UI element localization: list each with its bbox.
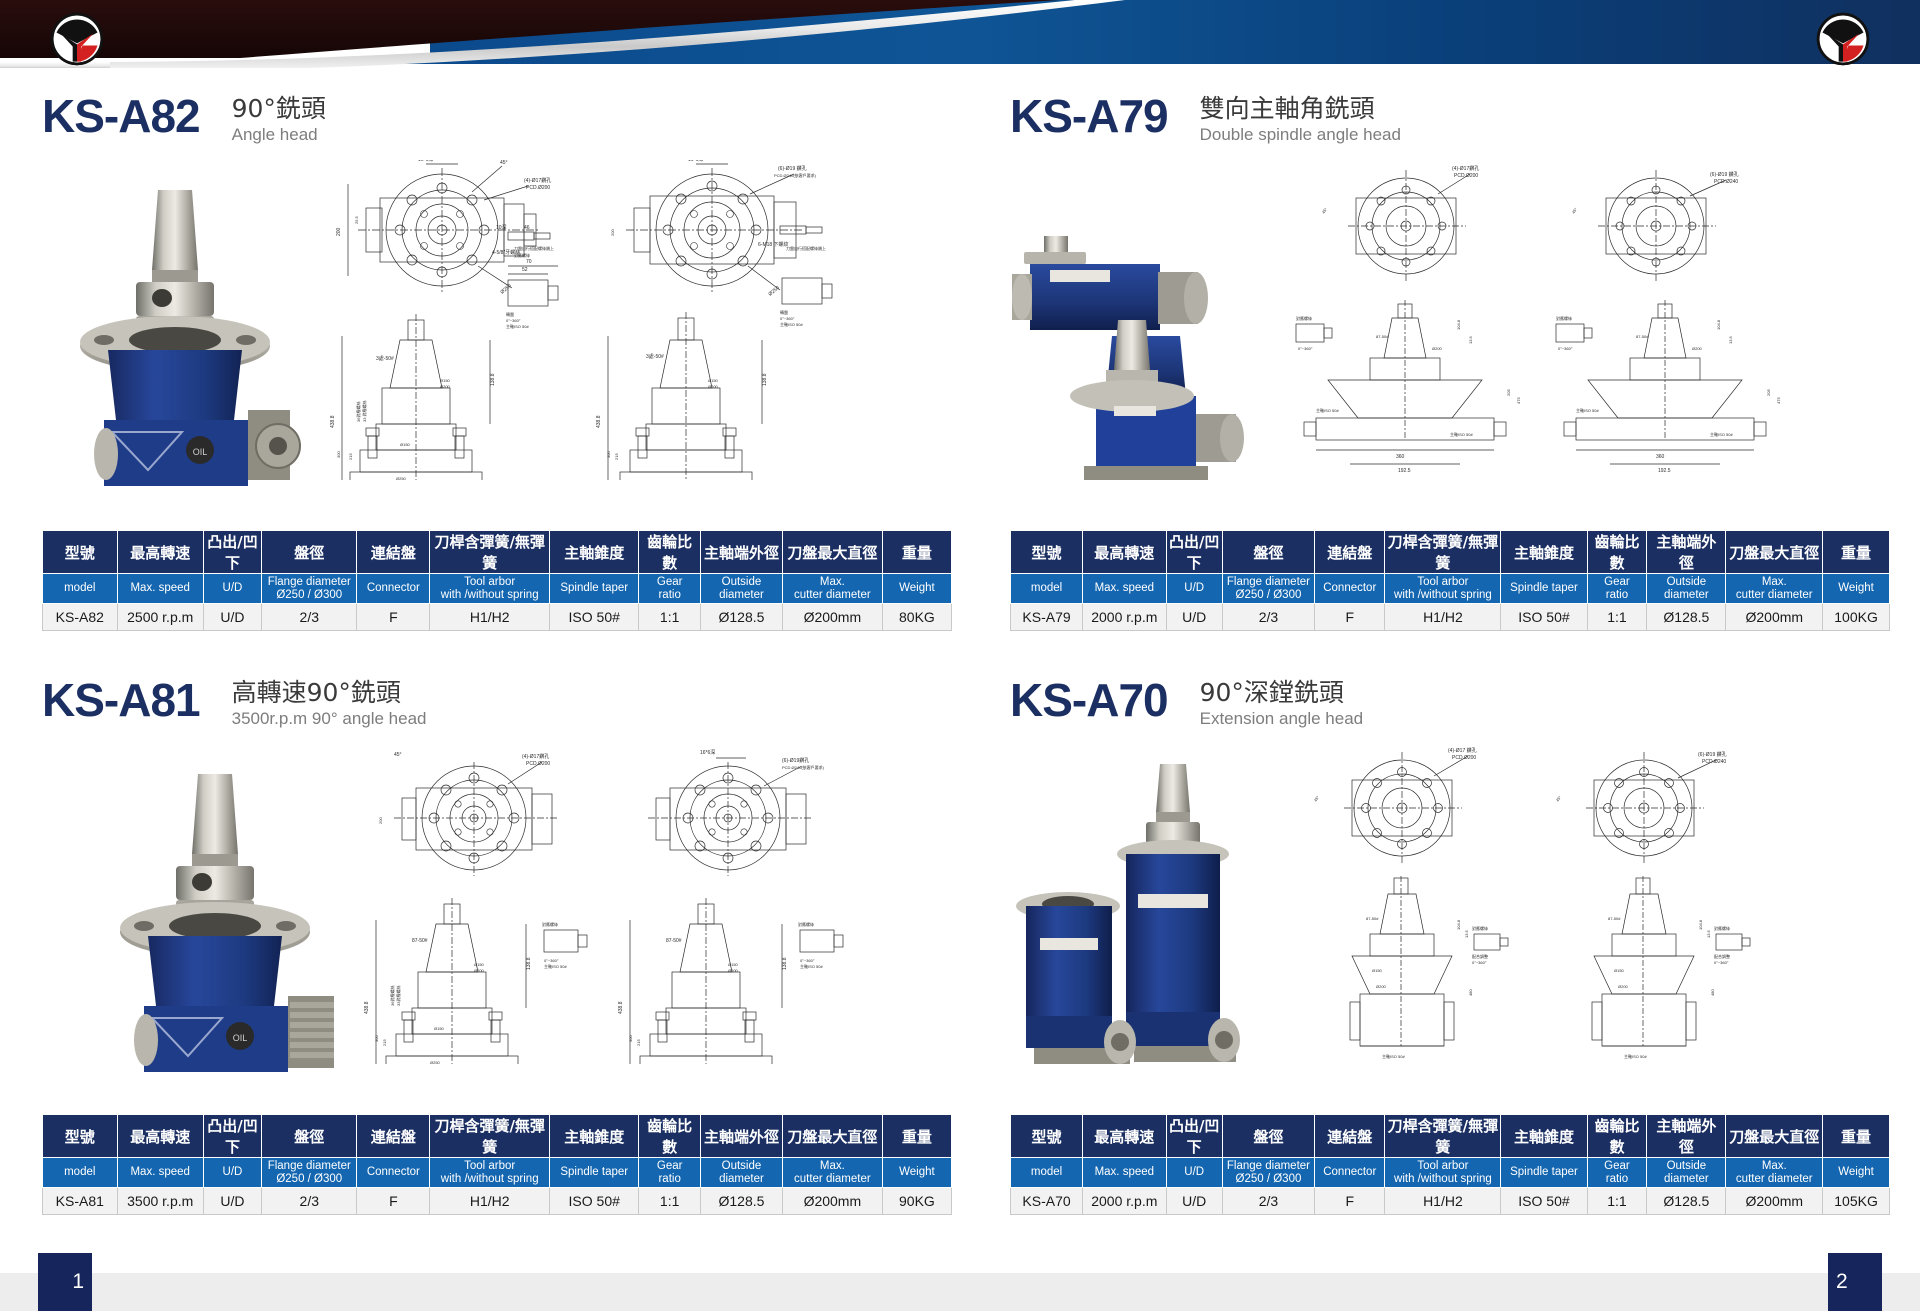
svg-text:87-50#: 87-50# bbox=[1636, 334, 1649, 339]
svg-text:36對應螺絲: 36對應螺絲 bbox=[355, 402, 361, 422]
product-title-row: KS-A82 90°銑頭 Angle head bbox=[42, 92, 952, 154]
svg-text:3處-50#: 3處-50# bbox=[646, 353, 664, 360]
cell-model: KS-A79 bbox=[1011, 604, 1083, 631]
svg-text:(4)-Ø17 鑽孔: (4)-Ø17 鑽孔 bbox=[1448, 747, 1477, 754]
th-en-flange: Flange diameterØ250 / Ø300 bbox=[262, 574, 357, 604]
svg-text:300: 300 bbox=[336, 451, 341, 458]
page-header-banner bbox=[0, 0, 1920, 72]
svg-text:360: 360 bbox=[1656, 454, 1665, 460]
svg-text:主軸ISO 50#: 主軸ISO 50# bbox=[1710, 431, 1733, 437]
cell-spindle-taper: ISO 50# bbox=[550, 604, 639, 631]
th-en-model: model bbox=[43, 574, 118, 604]
cell-max-cutter: Ø200mm bbox=[1726, 604, 1823, 631]
cell-spindle-taper: ISO 50# bbox=[1501, 1188, 1587, 1215]
th-en-tool-arbor: Tool arborwith /without spring bbox=[430, 1158, 550, 1188]
svg-text:200: 200 bbox=[610, 229, 615, 236]
product-title-cn: 高轉速90°銑頭 bbox=[232, 678, 427, 708]
table-header-row-cn: 型號 最高轉速 凸出/凹下 盤徑 連結盤 刀桿含彈簧/無彈簧 主軸錐度 齒輪比數… bbox=[43, 531, 952, 574]
product-model-code: KS-A82 bbox=[42, 92, 200, 140]
th-cn-gear-ratio: 齒輪比數 bbox=[639, 1115, 701, 1158]
svg-text:87-50#: 87-50# bbox=[1366, 916, 1379, 921]
cell-flange: 2/3 bbox=[262, 604, 357, 631]
svg-text:33 對應螺絲: 33 對應螺絲 bbox=[361, 400, 367, 422]
th-en-flange: Flange diameterØ250 / Ø300 bbox=[262, 1158, 357, 1188]
spec-table-ks-a70: 型號 最高轉速 凸出/凹下 盤徑 連結盤 刀桿含彈簧/無彈簧 主軸錐度 齒輪比數… bbox=[1010, 1114, 1890, 1215]
th-en-connector: Connector bbox=[1315, 574, 1385, 604]
cell-model: KS-A70 bbox=[1011, 1188, 1083, 1215]
svg-text:104.8: 104.8 bbox=[1456, 319, 1461, 330]
product-media-area: OIL bbox=[42, 160, 952, 530]
th-cn-flange: 盤徑 bbox=[262, 531, 357, 574]
table-header-row-cn: 型號 最高轉速 凸出/凹下 盤徑 連結盤 刀桿含彈簧/無彈簧 主軸錐度 齒輪比數… bbox=[1011, 1115, 1890, 1158]
svg-text:13.5: 13.5 bbox=[1468, 335, 1473, 344]
svg-text:215: 215 bbox=[614, 453, 619, 460]
svg-text:主軸ISO 50#: 主軸ISO 50# bbox=[1576, 407, 1599, 413]
th-en-max-speed: Max. speed bbox=[1083, 1158, 1167, 1188]
th-en-gear-ratio: Gearratio bbox=[1587, 574, 1647, 604]
cell-ud: U/D bbox=[1166, 604, 1222, 631]
th-cn-weight: 重量 bbox=[1823, 1115, 1890, 1158]
product-model-code: KS-A79 bbox=[1010, 92, 1168, 140]
th-en-flange: Flange diameterØ250 / Ø300 bbox=[1222, 574, 1314, 604]
svg-text:主軸ISO 50#: 主軸ISO 50# bbox=[800, 963, 823, 969]
svg-text:0°~360°: 0°~360° bbox=[1714, 960, 1729, 965]
svg-text:刀盤自行搭配螺絲鎖上: 刀盤自行搭配螺絲鎖上 bbox=[786, 245, 826, 251]
product-title-en: 3500r.p.m 90° angle head bbox=[232, 708, 427, 730]
page-number-left: 1 bbox=[38, 1253, 92, 1311]
cell-tool-arbor: H1/H2 bbox=[1385, 1188, 1501, 1215]
svg-text:3處-50#: 3處-50# bbox=[376, 355, 394, 362]
svg-text:Ø250: Ø250 bbox=[767, 285, 780, 298]
th-en-outside-diameter: Outsidediameter bbox=[1647, 574, 1726, 604]
product-block-ks-a82: KS-A82 90°銑頭 Angle head bbox=[42, 92, 952, 631]
th-cn-gear-ratio: 齒輪比數 bbox=[639, 531, 701, 574]
svg-text:配合調整: 配合調整 bbox=[1472, 953, 1488, 959]
th-cn-max-cutter: 刀盤最大直徑 bbox=[782, 1115, 882, 1158]
technical-drawing-ks-a82: 200 25.5 16*6深 45° (4)-Ø17鑽孔 PCD.Ø200 Ø2… bbox=[312, 160, 942, 480]
th-cn-outside-diameter: 主軸端外徑 bbox=[701, 531, 783, 574]
th-cn-connector: 連結盤 bbox=[1315, 531, 1385, 574]
cell-ud: U/D bbox=[203, 604, 261, 631]
spec-table-ks-a81: 型號 最高轉速 凸出/凹下 盤徑 連結盤 刀桿含彈簧/無彈簧 主軸錐度 齒輪比數… bbox=[42, 1114, 952, 1215]
th-en-weight: Weight bbox=[882, 1158, 951, 1188]
svg-text:Ø150: Ø150 bbox=[1372, 968, 1383, 973]
svg-text:25.5: 25.5 bbox=[354, 215, 359, 224]
svg-text:215: 215 bbox=[348, 453, 353, 460]
svg-text:45°: 45° bbox=[1313, 794, 1321, 802]
spec-table-ks-a79: 型號 最高轉速 凸出/凹下 盤徑 連結盤 刀桿含彈簧/無彈簧 主軸錐度 齒輪比數… bbox=[1010, 530, 1890, 631]
svg-text:轉盤: 轉盤 bbox=[780, 309, 788, 315]
product-title-row: KS-A81 高轉速90°銑頭 3500r.p.m 90° angle head bbox=[42, 676, 952, 738]
svg-text:480: 480 bbox=[1710, 989, 1715, 996]
th-cn-max-speed: 最高轉速 bbox=[117, 531, 203, 574]
th-cn-max-cutter: 刀盤最大直徑 bbox=[782, 531, 882, 574]
svg-text:215: 215 bbox=[636, 1039, 641, 1046]
cell-spindle-taper: ISO 50# bbox=[550, 1188, 639, 1215]
svg-text:Ø150: Ø150 bbox=[1614, 968, 1625, 973]
svg-text:138.8: 138.8 bbox=[762, 373, 768, 386]
th-en-gear-ratio: Gearratio bbox=[639, 1158, 701, 1188]
cell-connector: F bbox=[1315, 604, 1385, 631]
th-cn-outside-diameter: 主軸端外徑 bbox=[1647, 531, 1726, 574]
svg-text:70: 70 bbox=[526, 259, 532, 265]
svg-text:Ø250: Ø250 bbox=[430, 1060, 441, 1064]
svg-text:87-50#: 87-50# bbox=[412, 938, 428, 944]
cell-model: KS-A82 bbox=[43, 604, 118, 631]
th-cn-model: 型號 bbox=[1011, 531, 1083, 574]
svg-text:Ø250: Ø250 bbox=[499, 283, 512, 296]
cell-max-speed: 2000 r.p.m bbox=[1083, 604, 1167, 631]
svg-text:轉盤: 轉盤 bbox=[506, 311, 514, 317]
svg-text:45°: 45° bbox=[394, 752, 402, 758]
th-en-tool-arbor: Tool arborwith /without spring bbox=[430, 574, 550, 604]
th-cn-gear-ratio: 齒輪比數 bbox=[1587, 531, 1647, 574]
cell-connector: F bbox=[1315, 1188, 1385, 1215]
product-model-code: KS-A81 bbox=[42, 676, 200, 724]
svg-text:PCD.Ø240(依客戶要求): PCD.Ø240(依客戶要求) bbox=[782, 764, 825, 770]
svg-text:(4)-Ø17鑽孔: (4)-Ø17鑽孔 bbox=[1452, 165, 1479, 172]
svg-text:104.8: 104.8 bbox=[1698, 919, 1703, 930]
svg-text:PCD.Ø240(依客戶要求): PCD.Ø240(依客戶要求) bbox=[774, 172, 817, 178]
svg-text:13.5: 13.5 bbox=[1728, 335, 1733, 344]
cell-outside-diameter: Ø128.5 bbox=[1647, 604, 1726, 631]
footer-strip bbox=[0, 1273, 1920, 1311]
th-cn-weight: 重量 bbox=[882, 1115, 951, 1158]
svg-text:0°~360°: 0°~360° bbox=[506, 318, 521, 323]
th-cn-connector: 連結盤 bbox=[357, 1115, 430, 1158]
th-cn-max-speed: 最高轉速 bbox=[1083, 1115, 1167, 1158]
product-title-en: Double spindle angle head bbox=[1200, 124, 1401, 146]
svg-text:Ø250: Ø250 bbox=[396, 476, 407, 480]
header-swoosh-graphic bbox=[0, 0, 1920, 72]
svg-text:主軸ISO 50#: 主軸ISO 50# bbox=[1624, 1053, 1647, 1059]
cell-connector: F bbox=[357, 1188, 430, 1215]
svg-text:PCD.Ø200: PCD.Ø200 bbox=[526, 185, 550, 191]
th-en-connector: Connector bbox=[357, 1158, 430, 1188]
cell-gear-ratio: 1:1 bbox=[639, 1188, 701, 1215]
th-en-ud: U/D bbox=[1166, 1158, 1222, 1188]
svg-text:PCD.Ø200: PCD.Ø200 bbox=[1454, 173, 1478, 179]
svg-text:192.5: 192.5 bbox=[1658, 468, 1671, 474]
svg-text:36對應螺絲: 36對應螺絲 bbox=[389, 986, 395, 1006]
svg-text:0°~360°: 0°~360° bbox=[1472, 960, 1487, 965]
th-cn-model: 型號 bbox=[1011, 1115, 1083, 1158]
svg-text:配合調整: 配合調整 bbox=[1714, 953, 1730, 959]
svg-text:0°~360°: 0°~360° bbox=[800, 958, 815, 963]
cell-max-cutter: Ø200mm bbox=[1726, 1188, 1823, 1215]
cell-max-cutter: Ø200mm bbox=[782, 604, 882, 631]
svg-text:主軸ISO 50#: 主軸ISO 50# bbox=[780, 321, 803, 327]
svg-text:Ø200: Ø200 bbox=[1376, 984, 1387, 989]
svg-text:OIL: OIL bbox=[193, 447, 208, 457]
th-cn-weight: 重量 bbox=[1823, 531, 1890, 574]
svg-text:475: 475 bbox=[1516, 397, 1521, 404]
th-cn-tool-arbor: 刀桿含彈簧/無彈簧 bbox=[1385, 1115, 1501, 1158]
th-cn-flange: 盤徑 bbox=[1222, 1115, 1314, 1158]
cell-max-speed: 2000 r.p.m bbox=[1083, 1188, 1167, 1215]
svg-text:87-50#: 87-50# bbox=[1376, 334, 1389, 339]
table-row: KS-A79 2000 r.p.m U/D 2/3 F H1/H2 ISO 50… bbox=[1011, 604, 1890, 631]
th-en-outside-diameter: Outsidediameter bbox=[701, 1158, 783, 1188]
svg-text:(6)-Ø19 鑽孔: (6)-Ø19 鑽孔 bbox=[1698, 751, 1727, 758]
svg-text:45°: 45° bbox=[1321, 206, 1329, 214]
th-cn-max-cutter: 刀盤最大直徑 bbox=[1726, 1115, 1823, 1158]
svg-text:0°~360°: 0°~360° bbox=[544, 958, 559, 963]
svg-text:200: 200 bbox=[378, 817, 383, 824]
svg-text:475: 475 bbox=[1776, 397, 1781, 404]
svg-text:200: 200 bbox=[336, 227, 342, 236]
svg-text:438.8: 438.8 bbox=[330, 415, 336, 428]
svg-text:Ø150: Ø150 bbox=[708, 378, 719, 383]
svg-text:對應螺絲: 對應螺絲 bbox=[1556, 315, 1572, 321]
svg-text:(6)-Ø19 鑽孔: (6)-Ø19 鑽孔 bbox=[778, 165, 807, 172]
cell-model: KS-A81 bbox=[43, 1188, 118, 1215]
svg-text:(4)-Ø17鑽孔: (4)-Ø17鑽孔 bbox=[524, 177, 551, 184]
svg-text:138.8: 138.8 bbox=[490, 373, 496, 386]
cell-spindle-taper: ISO 50# bbox=[1501, 604, 1587, 631]
product-title-cn: 雙向主軸角銑頭 bbox=[1200, 94, 1401, 124]
cell-outside-diameter: Ø128.5 bbox=[701, 604, 783, 631]
svg-text:對應螺絲: 對應螺絲 bbox=[798, 921, 814, 927]
th-en-gear-ratio: Gearratio bbox=[639, 574, 701, 604]
svg-text:215: 215 bbox=[382, 1039, 387, 1046]
product-title-row: KS-A70 90°深鏜銑頭 Extension angle head bbox=[1010, 676, 1890, 738]
th-cn-weight: 重量 bbox=[882, 531, 951, 574]
table-header-row-en: model Max. speed U/D Flange diameterØ250… bbox=[43, 574, 952, 604]
table-header-row-en: model Max. speed U/D Flange diameterØ250… bbox=[43, 1158, 952, 1188]
th-en-max-speed: Max. speed bbox=[117, 1158, 203, 1188]
technical-drawing-ks-a81: (4)-Ø17鑽孔 PCD.Ø200 45° 200 bbox=[352, 744, 942, 1064]
svg-text:360: 360 bbox=[1396, 454, 1405, 460]
th-cn-ud: 凸出/凹下 bbox=[203, 1115, 261, 1158]
th-en-max-speed: Max. speed bbox=[117, 574, 203, 604]
svg-text:205: 205 bbox=[1506, 389, 1511, 396]
product-photo bbox=[1010, 200, 1270, 520]
th-cn-tool-arbor: 刀桿含彈簧/無彈簧 bbox=[430, 531, 550, 574]
svg-text:Ø200: Ø200 bbox=[440, 384, 451, 389]
product-block-ks-a81: KS-A81 高轉速90°銑頭 3500r.p.m 90° angle head bbox=[42, 676, 952, 1215]
th-cn-connector: 連結盤 bbox=[357, 531, 430, 574]
svg-text:刀盤自行搭配螺絲鎖上: 刀盤自行搭配螺絲鎖上 bbox=[514, 245, 554, 251]
th-en-max-speed: Max. speed bbox=[1083, 574, 1167, 604]
th-cn-max-cutter: 刀盤最大直徑 bbox=[1726, 531, 1823, 574]
th-en-spindle-taper: Spindle taper bbox=[1501, 574, 1587, 604]
svg-text:PCD.Ø240: PCD.Ø240 bbox=[1714, 179, 1738, 185]
svg-text:(4)-Ø17鑽孔: (4)-Ø17鑽孔 bbox=[522, 753, 549, 760]
svg-text:46: 46 bbox=[524, 225, 530, 231]
th-en-max-cutter: Max.cutter diameter bbox=[1726, 574, 1823, 604]
svg-text:438.8: 438.8 bbox=[596, 415, 602, 428]
th-cn-ud: 凸出/凹下 bbox=[1166, 1115, 1222, 1158]
th-en-connector: Connector bbox=[1315, 1158, 1385, 1188]
svg-text:Ø150: Ø150 bbox=[434, 1026, 445, 1031]
th-cn-gear-ratio: 齒輪比數 bbox=[1587, 1115, 1647, 1158]
svg-text:主軸ISO 50#: 主軸ISO 50# bbox=[506, 323, 529, 329]
th-en-ud: U/D bbox=[203, 1158, 261, 1188]
table-row: KS-A82 2500 r.p.m U/D 2/3 F H1/H2 ISO 50… bbox=[43, 604, 952, 631]
th-cn-spindle-taper: 主軸錐度 bbox=[550, 1115, 639, 1158]
th-en-spindle-taper: Spindle taper bbox=[550, 574, 639, 604]
th-cn-connector: 連結盤 bbox=[1315, 1115, 1385, 1158]
company-logo-left bbox=[50, 12, 104, 66]
svg-text:Ø200: Ø200 bbox=[1618, 984, 1629, 989]
company-logo-right bbox=[1816, 12, 1870, 66]
product-photo: OIL bbox=[92, 758, 342, 1088]
th-en-max-cutter: Max.cutter diameter bbox=[782, 1158, 882, 1188]
svg-text:主軸ISO 50#: 主軸ISO 50# bbox=[1316, 407, 1339, 413]
product-media-area: (4)-Ø17鑽孔 PCD.Ø200 45° bbox=[1010, 160, 1890, 530]
table-header-row-en: model Max. speed U/D Flange diameterØ250… bbox=[1011, 574, 1890, 604]
product-title-row: KS-A79 雙向主軸角銑頭 Double spindle angle head bbox=[1010, 92, 1890, 154]
table-row: KS-A70 2000 r.p.m U/D 2/3 F H1/H2 ISO 50… bbox=[1011, 1188, 1890, 1215]
product-title-cn: 90°深鏜銑頭 bbox=[1200, 678, 1364, 708]
product-title-en: Extension angle head bbox=[1200, 708, 1364, 730]
th-en-outside-diameter: Outsidediameter bbox=[1647, 1158, 1726, 1188]
th-cn-tool-arbor: 刀桿含彈簧/無彈簧 bbox=[430, 1115, 550, 1158]
svg-text:16*6深: 16*6深 bbox=[688, 160, 703, 163]
th-cn-model: 型號 bbox=[43, 1115, 118, 1158]
svg-text:Ø150: Ø150 bbox=[474, 962, 485, 967]
cell-max-cutter: Ø200mm bbox=[782, 1188, 882, 1215]
cell-weight: 80KG bbox=[882, 604, 951, 631]
cell-weight: 100KG bbox=[1823, 604, 1890, 631]
th-cn-flange: 盤徑 bbox=[262, 1115, 357, 1158]
product-photo: OIL bbox=[52, 170, 302, 500]
product-block-ks-a70: KS-A70 90°深鏜銑頭 Extension angle head bbox=[1010, 676, 1890, 1215]
svg-text:13.5: 13.5 bbox=[1464, 929, 1469, 938]
svg-text:Ø200: Ø200 bbox=[474, 968, 485, 973]
svg-text:0°~360°: 0°~360° bbox=[1298, 346, 1313, 351]
cell-weight: 90KG bbox=[882, 1188, 951, 1215]
cell-flange: 2/3 bbox=[262, 1188, 357, 1215]
svg-text:Ø200: Ø200 bbox=[1432, 346, 1443, 351]
th-en-weight: Weight bbox=[1823, 574, 1890, 604]
svg-text:Ø200: Ø200 bbox=[708, 384, 719, 389]
svg-text:87-50#: 87-50# bbox=[666, 938, 682, 944]
cell-gear-ratio: 1:1 bbox=[639, 604, 701, 631]
th-cn-max-speed: 最高轉速 bbox=[117, 1115, 203, 1158]
th-en-flange: Flange diameterØ250 / Ø300 bbox=[1222, 1158, 1314, 1188]
th-en-spindle-taper: Spindle taper bbox=[550, 1158, 639, 1188]
svg-text:Ø150: Ø150 bbox=[728, 962, 739, 967]
th-en-model: model bbox=[1011, 1158, 1083, 1188]
table-row: KS-A81 3500 r.p.m U/D 2/3 F H1/H2 ISO 50… bbox=[43, 1188, 952, 1215]
th-en-ud: U/D bbox=[203, 574, 261, 604]
svg-text:45°: 45° bbox=[1571, 206, 1579, 214]
page-footer: 1 2 bbox=[0, 1253, 1920, 1311]
th-cn-model: 型號 bbox=[43, 531, 118, 574]
product-block-ks-a79: KS-A79 雙向主軸角銑頭 Double spindle angle head bbox=[1010, 92, 1890, 631]
svg-text:138.8: 138.8 bbox=[526, 957, 532, 970]
cell-tool-arbor: H1/H2 bbox=[1385, 604, 1501, 631]
spec-table-ks-a82: 型號 最高轉速 凸出/凹下 盤徑 連結盤 刀桿含彈簧/無彈簧 主軸錐度 齒輪比數… bbox=[42, 530, 952, 631]
cell-gear-ratio: 1:1 bbox=[1587, 1188, 1647, 1215]
th-en-tool-arbor: Tool arborwith /without spring bbox=[1385, 1158, 1501, 1188]
svg-text:Ø150: Ø150 bbox=[440, 378, 451, 383]
cell-gear-ratio: 1:1 bbox=[1587, 604, 1647, 631]
svg-text:104.8: 104.8 bbox=[1456, 919, 1461, 930]
cell-flange: 2/3 bbox=[1222, 1188, 1314, 1215]
technical-drawing-ks-a79: (4)-Ø17鑽孔 PCD.Ø200 45° bbox=[1290, 160, 1890, 480]
th-en-weight: Weight bbox=[882, 574, 951, 604]
th-cn-flange: 盤徑 bbox=[1222, 531, 1314, 574]
svg-text:主軸ISO 50#: 主軸ISO 50# bbox=[1382, 1053, 1405, 1059]
product-title-en: Angle head bbox=[232, 124, 326, 146]
svg-text:87-50#: 87-50# bbox=[1608, 916, 1621, 921]
table-header-row-cn: 型號 最高轉速 凸出/凹下 盤徑 連結盤 刀桿含彈簧/無彈簧 主軸錐度 齒輪比數… bbox=[1011, 531, 1890, 574]
svg-text:205: 205 bbox=[1766, 389, 1771, 396]
cell-ud: U/D bbox=[203, 1188, 261, 1215]
svg-text:(6)-Ø19 鑽孔: (6)-Ø19 鑽孔 bbox=[1710, 171, 1739, 178]
th-en-max-cutter: Max.cutter diameter bbox=[1726, 1158, 1823, 1188]
svg-text:438.8: 438.8 bbox=[618, 1001, 624, 1014]
table-header-row-cn: 型號 最高轉速 凸出/凹下 盤徑 連結盤 刀桿含彈簧/無彈簧 主軸錐度 齒輪比數… bbox=[43, 1115, 952, 1158]
svg-text:16*6深: 16*6深 bbox=[418, 160, 433, 163]
cell-tool-arbor: H1/H2 bbox=[430, 604, 550, 631]
cell-connector: F bbox=[357, 604, 430, 631]
th-cn-ud: 凸出/凹下 bbox=[203, 531, 261, 574]
product-media-area: (4)-Ø17 鑽孔 PCD.Ø200 45° bbox=[1010, 744, 1890, 1114]
svg-text:300: 300 bbox=[374, 1035, 379, 1042]
cell-ud: U/D bbox=[1166, 1188, 1222, 1215]
cell-weight: 105KG bbox=[1823, 1188, 1890, 1215]
th-cn-spindle-taper: 主軸錐度 bbox=[1501, 1115, 1587, 1158]
cell-outside-diameter: Ø128.5 bbox=[1647, 1188, 1726, 1215]
technical-drawing-ks-a70: (4)-Ø17 鑽孔 PCD.Ø200 45° bbox=[1280, 744, 1890, 1064]
svg-text:33對應螺絲: 33對應螺絲 bbox=[395, 986, 401, 1006]
svg-text:PCD.Ø240: PCD.Ø240 bbox=[1702, 759, 1726, 765]
svg-text:PCD.Ø200: PCD.Ø200 bbox=[1452, 755, 1476, 761]
svg-text:0°~360°: 0°~360° bbox=[780, 316, 795, 321]
svg-text:45°: 45° bbox=[1555, 794, 1563, 802]
svg-text:Ø150: Ø150 bbox=[400, 442, 411, 447]
cell-tool-arbor: H1/H2 bbox=[430, 1188, 550, 1215]
th-cn-spindle-taper: 主軸錐度 bbox=[550, 531, 639, 574]
th-en-gear-ratio: Gearratio bbox=[1587, 1158, 1647, 1188]
product-media-area: OIL bbox=[42, 744, 952, 1114]
svg-text:PCD.Ø200: PCD.Ø200 bbox=[526, 761, 550, 767]
th-en-tool-arbor: Tool arborwith /without spring bbox=[1385, 574, 1501, 604]
svg-text:104.8: 104.8 bbox=[1716, 319, 1721, 330]
th-en-max-cutter: Max.cutter diameter bbox=[782, 574, 882, 604]
svg-text:6-M18 下螺紋: 6-M18 下螺紋 bbox=[758, 241, 789, 248]
svg-text:(6)-Ø19鑽孔: (6)-Ø19鑽孔 bbox=[782, 757, 809, 764]
svg-text:300: 300 bbox=[606, 451, 611, 458]
svg-text:對應螺絲: 對應螺絲 bbox=[1714, 925, 1730, 931]
svg-text:對應螺絲: 對應螺絲 bbox=[542, 921, 558, 927]
th-en-model: model bbox=[1011, 574, 1083, 604]
svg-text:138.8: 138.8 bbox=[782, 957, 788, 970]
svg-text:52: 52 bbox=[522, 267, 528, 273]
svg-text:16*6深: 16*6深 bbox=[700, 749, 715, 756]
th-cn-tool-arbor: 刀桿含彈簧/無彈簧 bbox=[1385, 531, 1501, 574]
svg-text:45°: 45° bbox=[500, 160, 508, 166]
th-en-ud: U/D bbox=[1166, 574, 1222, 604]
th-cn-outside-diameter: 主軸端外徑 bbox=[701, 1115, 783, 1158]
svg-text:192.5: 192.5 bbox=[1398, 468, 1411, 474]
th-cn-max-speed: 最高轉速 bbox=[1083, 531, 1167, 574]
svg-text:對應螺絲: 對應螺絲 bbox=[1296, 315, 1312, 321]
catalog-page: KS-A82 90°銑頭 Angle head bbox=[0, 0, 1920, 1311]
th-en-connector: Connector bbox=[357, 574, 430, 604]
cell-outside-diameter: Ø128.5 bbox=[701, 1188, 783, 1215]
svg-text:438.8: 438.8 bbox=[364, 1001, 370, 1014]
svg-text:主軸ISO 50#: 主軸ISO 50# bbox=[1450, 431, 1473, 437]
table-header-row-en: model Max. speed U/D Flange diameterØ250… bbox=[1011, 1158, 1890, 1188]
svg-text:Ø200: Ø200 bbox=[728, 968, 739, 973]
svg-text:10深: 10深 bbox=[496, 224, 507, 231]
page-number-right: 2 bbox=[1828, 1253, 1882, 1311]
